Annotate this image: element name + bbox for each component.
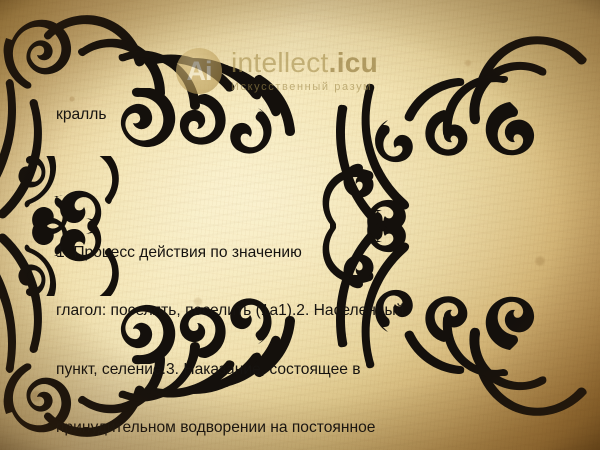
definition-block-1: 1. Процесс действия по значению глагол: … — [56, 204, 552, 450]
slide-text-content: кралль 1. Процесс действия по значению г… — [56, 66, 552, 450]
slide-canvas: Ai intellect.icu Искусственный разум кра… — [0, 0, 600, 450]
text-line: глагол: поселять, поселить (1а1).2. Насе… — [56, 301, 552, 320]
headword: кралль — [56, 105, 552, 124]
text-line: принудительном водворении на постоянное — [56, 418, 552, 437]
text-line: 1. Процесс действия по значению — [56, 243, 552, 262]
text-line: пункт, селение.3. Наказание, состоящее в — [56, 360, 552, 379]
